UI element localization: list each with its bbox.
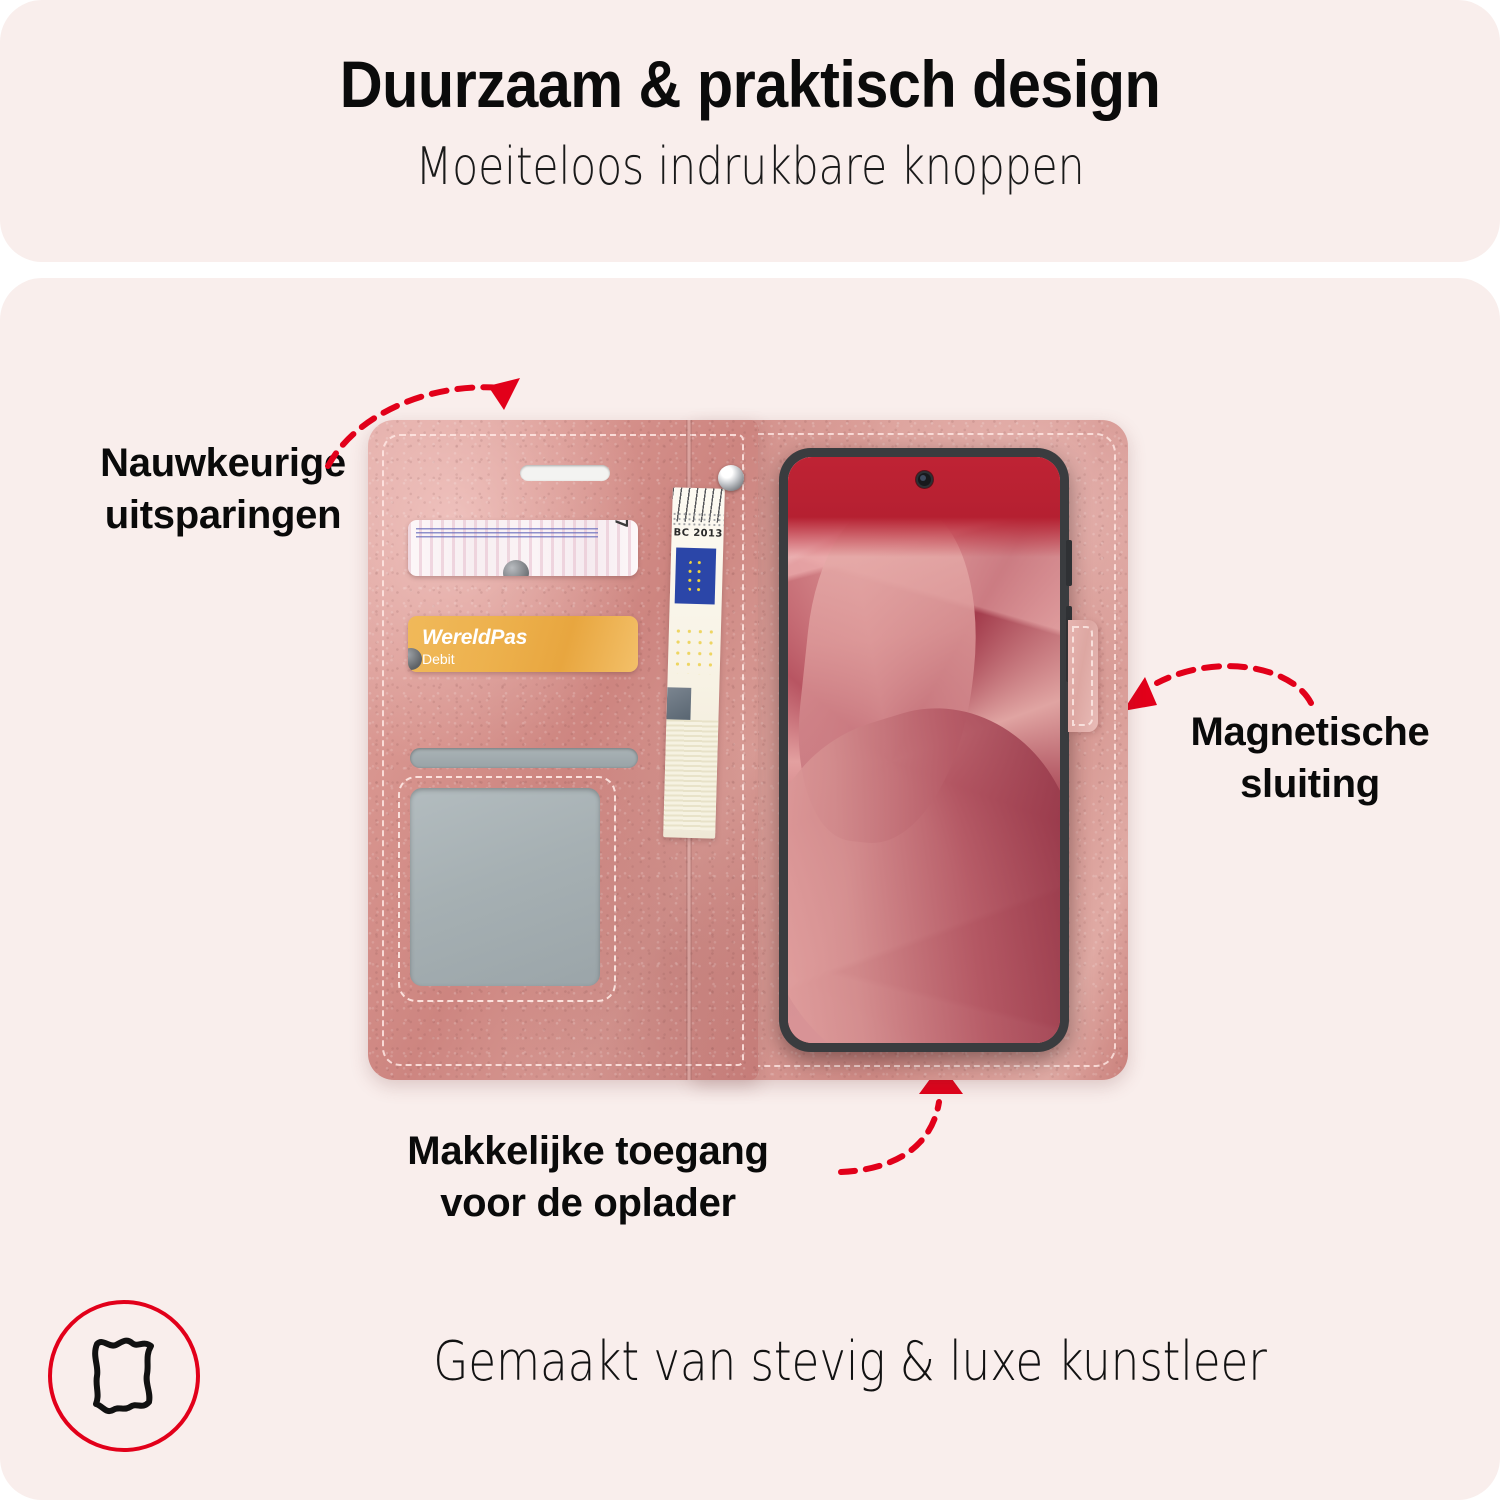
annotation-charger-access: Makkelijke toegang voor de oplader <box>358 1125 818 1229</box>
phone-device <box>779 448 1069 1052</box>
annotation-magnetic-closure: Magnetische sluiting <box>1160 706 1460 810</box>
header-card: Duurzaam & praktisch design Moeiteloos i… <box>0 0 1500 262</box>
front-camera-punchhole-icon <box>916 471 933 488</box>
page-title: Duurzaam & praktisch design <box>75 46 1425 122</box>
power-button <box>1066 540 1072 586</box>
id-card-microtext <box>416 528 598 539</box>
page-subtitle: Moeiteloos indrukbare knoppen <box>135 137 1365 197</box>
annotation-charger-line1: Makkelijke toegang <box>358 1125 818 1177</box>
annotation-charger-line2: voor de oplader <box>358 1177 818 1229</box>
eu-stars <box>685 558 706 595</box>
metal-snap-rivet <box>718 465 744 491</box>
infographic-page: Duurzaam & praktisch design Moeiteloos i… <box>0 0 1500 1500</box>
annotation-cutouts-line1: Nauwkeurige <box>58 437 388 489</box>
euro-banknote: BC 2013 <box>663 487 725 838</box>
leather-badge <box>48 1300 200 1452</box>
annotation-cutouts-line2: uitsparingen <box>58 489 388 541</box>
banknote-serial: BC 2013 <box>673 527 722 539</box>
leather-hide-icon <box>79 1330 169 1422</box>
debit-card-type: Debit <box>422 651 455 667</box>
id-window-pocket <box>410 788 600 986</box>
banknote-star-dots <box>672 625 713 674</box>
magnetic-closure-tab <box>1068 620 1098 732</box>
phone-screen <box>788 457 1060 1043</box>
magnetic-tab-stitching <box>1072 626 1093 726</box>
annotation-magnet-line1: Magnetische <box>1160 706 1460 758</box>
banknote-dots <box>672 511 724 528</box>
card-snap-rivet <box>408 648 422 670</box>
annotation-cutouts: Nauwkeurige uitsparingen <box>58 437 388 541</box>
debit-card-in-slot: WereldPas Debit <box>408 616 638 672</box>
id-card-in-slot: 797 <box>408 520 638 576</box>
extra-card-slot <box>410 748 638 768</box>
speaker-cutout <box>520 465 610 481</box>
product-image-wallet-case: 797 WereldPas Debit BC 2013 <box>368 420 1128 1080</box>
id-card-number: 797 <box>611 520 631 529</box>
banner-text: Gemaakt van stevig & luxe kunstleer <box>346 1330 1354 1393</box>
debit-card-brand: WereldPas <box>422 626 527 650</box>
eu-flag-icon <box>675 547 717 604</box>
annotation-magnet-line2: sluiting <box>1160 758 1460 810</box>
banknote-strip <box>663 719 718 830</box>
